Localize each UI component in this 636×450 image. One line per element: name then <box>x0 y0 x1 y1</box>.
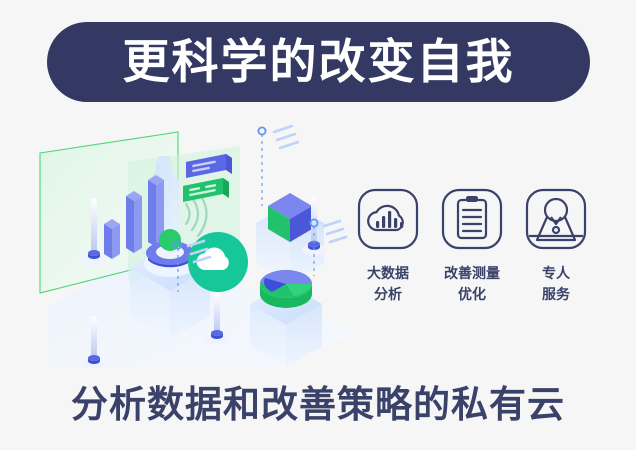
feature-label-line1: 专人 <box>542 266 570 282</box>
feature-label-line2: 优化 <box>444 285 500 306</box>
feature-label-line2: 服务 <box>542 285 570 306</box>
feature-item-big-data[interactable]: 大数据 分析 <box>352 188 424 328</box>
page-title: 更科学的改变自我 <box>123 39 515 86</box>
feature-label-service: 专人 服务 <box>542 264 570 306</box>
feature-label-big-data: 大数据 分析 <box>367 264 409 306</box>
feature-list: 大数据 分析 改善测量 <box>352 188 592 328</box>
feature-item-service[interactable]: 专人 服务 <box>520 188 592 328</box>
promo-banner: 更科学的改变自我 <box>0 0 636 450</box>
feature-label-line1: 大数据 <box>367 266 409 282</box>
feature-label-measurement: 改善测量 优化 <box>444 264 500 306</box>
title-banner-pill: 更科学的改变自我 <box>47 22 590 102</box>
isometric-pie-chart <box>260 270 312 308</box>
feature-label-line2: 分析 <box>367 285 409 306</box>
feature-label-line1: 改善测量 <box>444 266 500 282</box>
cloud-bar-chart-icon <box>357 188 419 250</box>
footer-tagline: 分析数据和改善策略的私有云 <box>0 385 636 426</box>
illustration <box>28 118 358 368</box>
customer-service-person-icon <box>525 188 587 250</box>
feature-item-measurement[interactable]: 改善测量 优化 <box>436 188 508 328</box>
clipboard-icon <box>441 188 503 250</box>
